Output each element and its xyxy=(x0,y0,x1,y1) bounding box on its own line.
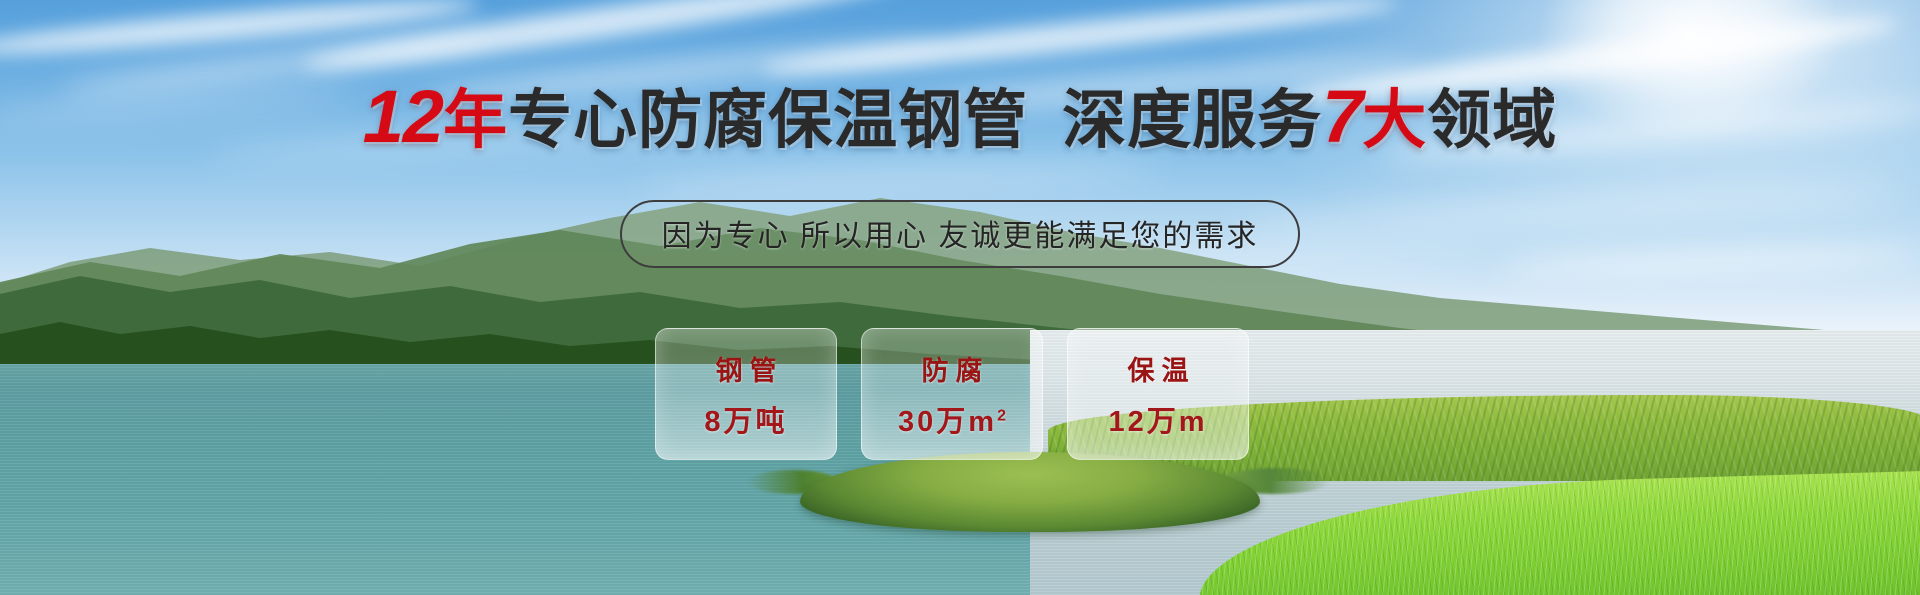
stat-card[interactable]: 钢管 8万吨 xyxy=(655,328,837,460)
stat-card-value-sup: 2 xyxy=(997,407,1006,424)
headline-years-number: 12 xyxy=(363,75,443,158)
stat-card-value: 12万m xyxy=(1108,398,1207,440)
stat-card-value: 8万吨 xyxy=(704,398,787,440)
headline-fields-unit: 大 xyxy=(1362,84,1427,156)
headline-main-phrase: 专心防腐保温钢管 xyxy=(508,84,1028,156)
headline-fields-number: 7 xyxy=(1322,75,1362,158)
stat-card[interactable]: 保温 12万m xyxy=(1067,328,1249,460)
headline-service-phrase: 深度服务 xyxy=(1062,84,1322,156)
stat-card-value-text: 30万m xyxy=(898,406,997,438)
headline-fields-word: 领域 xyxy=(1427,84,1557,156)
stat-card[interactable]: 防腐 30万m2 xyxy=(861,328,1043,460)
stat-card-value: 30万m2 xyxy=(898,398,1006,440)
stat-card-title: 防腐 xyxy=(915,349,990,388)
stat-card-group: 钢管 8万吨 防腐 30万m2 保温 12万m xyxy=(655,328,1249,460)
stat-card-value-text: 8万吨 xyxy=(704,406,787,438)
stat-card-title: 钢管 xyxy=(709,349,784,388)
stat-card-title: 保温 xyxy=(1121,349,1196,388)
subtitle-container: 因为专心 所以用心 友诚更能满足您的需求 xyxy=(0,200,1920,268)
stat-card-value-text: 12万m xyxy=(1108,406,1207,438)
subtitle-pill: 因为专心 所以用心 友诚更能满足您的需求 xyxy=(620,200,1301,268)
promo-banner: 12年专心防腐保温钢管深度服务7大领域 因为专心 所以用心 友诚更能满足您的需求… xyxy=(0,0,1920,595)
page-title: 12年专心防腐保温钢管深度服务7大领域 xyxy=(0,80,1920,154)
headline-years-unit: 年 xyxy=(443,84,508,156)
